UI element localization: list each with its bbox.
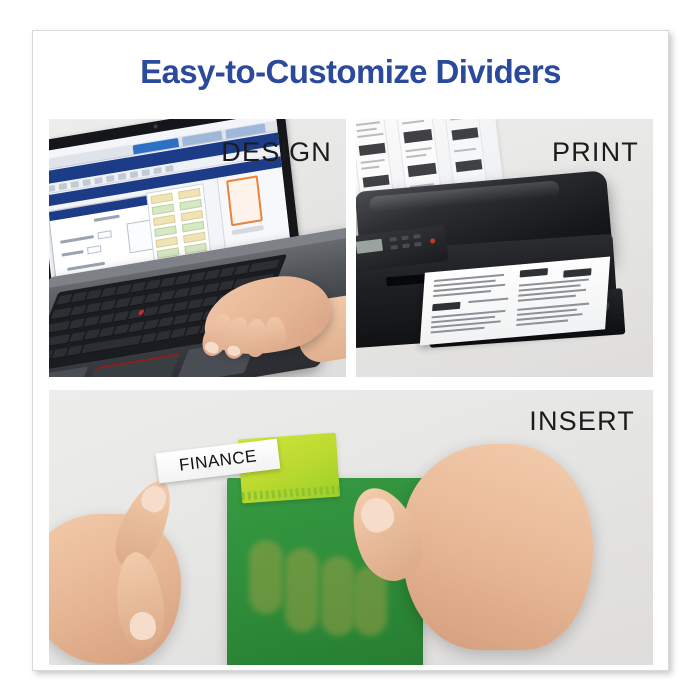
panel-print: PRINT (356, 119, 653, 377)
field-input[interactable] (97, 230, 112, 239)
right-hand (379, 434, 609, 665)
dialog-heading (94, 215, 120, 222)
palm-rest-left (49, 366, 88, 377)
right-hand-palm (403, 444, 593, 650)
panel-insert-label: INSERT (529, 406, 635, 437)
field-input[interactable] (87, 245, 102, 254)
field-label (62, 250, 84, 257)
panel-insert: FINANCE INSERT (49, 390, 653, 665)
selected-template-thumbnail (226, 175, 263, 226)
panel-row (232, 225, 264, 235)
field-label (60, 235, 94, 244)
product-image-card: Easy-to-Customize Dividers (32, 30, 669, 671)
panel-design-label: DESIGN (221, 137, 332, 168)
panel-print-label: PRINT (552, 137, 639, 168)
hand-on-keyboard (167, 265, 346, 373)
panel-design: DESIGN (49, 119, 346, 377)
power-button[interactable] (430, 238, 436, 244)
lcd-display (356, 239, 383, 254)
webcam-icon (153, 124, 157, 129)
page-title: Easy-to-Customize Dividers (33, 53, 668, 91)
label-strip-text: FINANCE (178, 446, 258, 475)
left-hand (49, 486, 201, 665)
